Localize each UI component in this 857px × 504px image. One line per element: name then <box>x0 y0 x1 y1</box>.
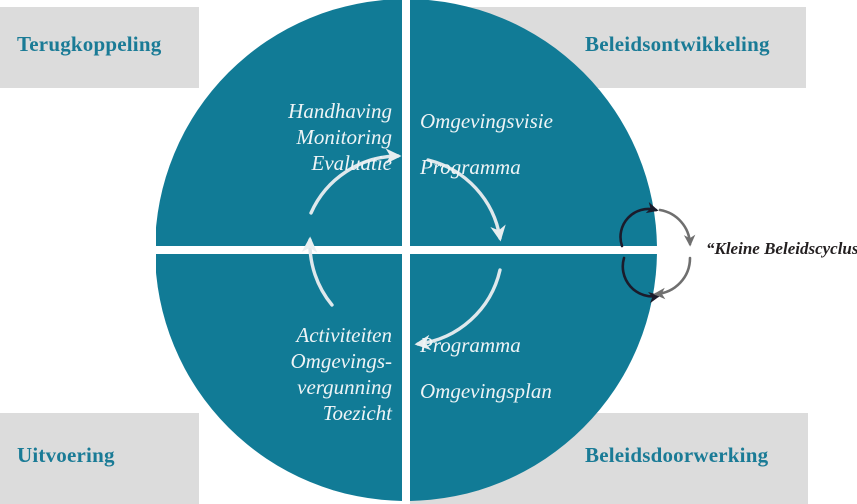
diagram-canvas: “Kleine Beleidscyclus Terugkoppeling Bel… <box>0 0 857 504</box>
mini-arrow-down-left <box>623 258 658 296</box>
quadrant-text-beleidsdoorwerking: Programma Omgevingsplan <box>420 322 650 414</box>
plate-label-uitvoering: Uitvoering <box>17 443 115 468</box>
quadrant-text-uitvoering: Activiteiten Omgevings- vergunning Toezi… <box>232 322 392 426</box>
kleine-beleidscyclus-label: “Kleine Beleidscyclus <box>706 239 857 259</box>
mini-arrow-up-left <box>621 209 656 246</box>
mini-arrow-right-down <box>660 210 690 244</box>
mini-arrow-right-back <box>656 258 690 294</box>
quadrant-text-terugkoppeling: Handhaving Monitoring Evaluatie <box>240 98 392 176</box>
plate-label-terugkoppeling: Terugkoppeling <box>17 32 161 57</box>
plate-label-beleidsontwikkeling: Beleidsontwikkeling <box>585 32 770 57</box>
policy-cycle-wheel <box>156 0 658 504</box>
plate-label-beleidsdoorwerking: Beleidsdoorwerking <box>585 443 768 468</box>
quadrant-text-beleidsontwikkeling: Omgevingsvisie Programma <box>420 98 650 190</box>
